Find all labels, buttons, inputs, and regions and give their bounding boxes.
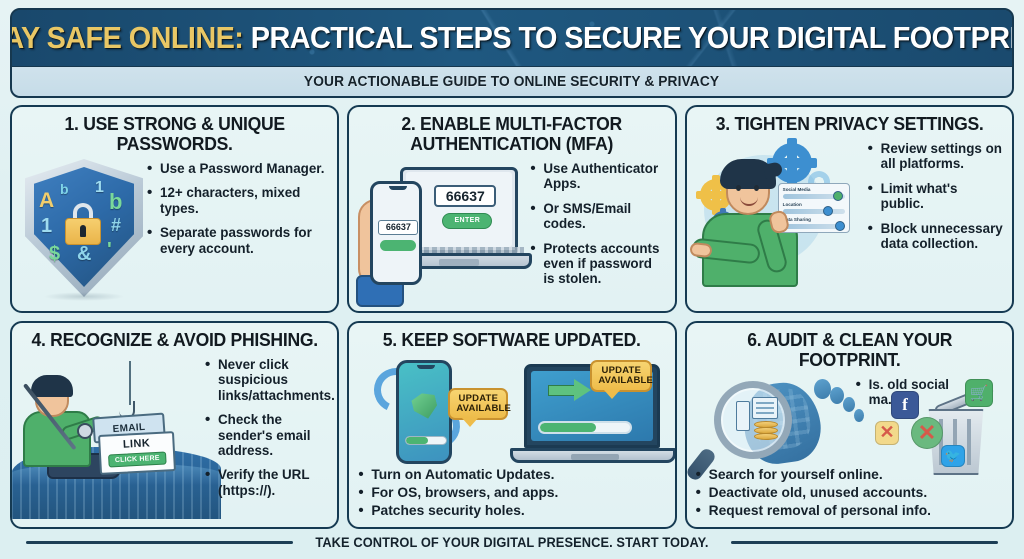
list-item: Check the sender's email address. — [205, 412, 335, 458]
card-title: 6. AUDIT & CLEAN YOUR FOOTPRINT. — [703, 330, 995, 370]
list-item: Protects accounts even if password is st… — [530, 241, 665, 287]
bullet-list: Search for yourself online. Deactivate o… — [696, 463, 1003, 521]
card-mfa: 2. ENABLE MULTI-FACTOR AUTHENTICATION (M… — [347, 105, 676, 313]
link-card-label: LINK — [100, 436, 173, 452]
list-item: Limit what's public. — [868, 181, 1003, 212]
phone-icon: 66637 — [370, 181, 422, 285]
shield-char: # — [111, 215, 121, 236]
padlock-icon — [65, 203, 101, 245]
bullet-list: Never click suspicious links/attachments… — [205, 353, 335, 507]
shield-char: ' — [107, 239, 112, 262]
update-illustration: UPDATE AVAILABLE UPDATE AVAILABLE — [358, 354, 665, 463]
hand-icon: 66637 — [358, 181, 434, 305]
tips-grid: 1. USE STRONG & UNIQUE PASSWORDS. A b 1 … — [10, 105, 1014, 529]
toggle-knob[interactable] — [833, 191, 843, 201]
phone-icon — [396, 360, 452, 464]
list-item: Or SMS/Email codes. — [530, 201, 665, 232]
phone-code: 66637 — [378, 220, 418, 235]
card-body: UPDATE AVAILABLE UPDATE AVAILABLE Turn o… — [358, 353, 665, 521]
shield-char: 1 — [95, 179, 104, 197]
phishing-illustration: EMAIL LINK CLICK HERE — [21, 353, 201, 511]
shopping-cart-icon: 🛒 — [965, 379, 993, 407]
list-item: Verify the URL (https://). — [205, 467, 335, 498]
card-body: Social Media Location Data Sharing — [696, 137, 1003, 305]
footer-tagline: TAKE CONTROL OF YOUR DIGITAL PRESENCE. S… — [315, 535, 708, 550]
privacy-illustration: Social Media Location Data Sharing — [696, 137, 864, 287]
title-highlight: STAY SAFE ONLINE: — [10, 20, 243, 55]
divider-left — [26, 541, 293, 544]
list-item: Patches security holes. — [358, 503, 665, 519]
update-badge-phone: UPDATE AVAILABLE — [448, 388, 508, 420]
card-updates: 5. KEEP SOFTWARE UPDATED. UPDATE — [347, 321, 676, 529]
card-title: 3. TIGHTEN PRIVACY SETTINGS. — [703, 114, 995, 134]
card-privacy: 3. TIGHTEN PRIVACY SETTINGS. — [685, 105, 1014, 313]
shield-char: $ — [49, 243, 60, 266]
list-item: Use Authenticator Apps. — [530, 161, 665, 192]
shield-char: 1 — [41, 215, 52, 238]
twitter-icon: 🐦 — [941, 445, 965, 467]
bullet-list: Review settings on all platforms. Limit … — [868, 137, 1003, 260]
footer: TAKE CONTROL OF YOUR DIGITAL PRESENCE. S… — [10, 529, 1014, 555]
laptop-code: 66637 — [434, 185, 496, 207]
card-phishing: 4. RECOGNIZE & AVOID PHISHING. — [10, 321, 339, 529]
card-body: EMAIL LINK CLICK HERE Never click suspic… — [21, 353, 328, 521]
link-card: LINK CLICK HERE — [98, 431, 176, 475]
mfa-illustration: 66637 ENTER 66637 — [358, 157, 526, 305]
card-body: Is. old social ma. e.g. f 🛒 ✕ ✕ 🐦 Search… — [696, 373, 1003, 521]
shield-char: & — [77, 243, 91, 266]
page-subtitle: YOUR ACTIONABLE GUIDE TO ONLINE SECURITY… — [304, 74, 719, 90]
list-item: Turn on Automatic Updates. — [358, 467, 665, 483]
card-title: 4. RECOGNIZE & AVOID PHISHING. — [29, 330, 321, 350]
database-icon — [754, 421, 778, 443]
update-badge-laptop: UPDATE AVAILABLE — [590, 360, 652, 392]
list-item: Review settings on all platforms. — [868, 141, 1003, 172]
click-here-button[interactable]: CLICK HERE — [108, 451, 167, 467]
card-passwords: 1. USE STRONG & UNIQUE PASSWORDS. A b 1 … — [10, 105, 339, 313]
list-item: Block unnecessary data collection. — [868, 221, 1003, 252]
toggle-knob[interactable] — [835, 221, 845, 231]
shield-char: A — [39, 189, 54, 213]
toggle-knob[interactable] — [823, 206, 833, 216]
shield-icon: A b 1 b 1 # $ & ' — [21, 157, 143, 297]
list-item: Deactivate old, unused accounts. — [696, 485, 1003, 501]
list-item: Separate passwords for every account. — [147, 225, 328, 256]
phone-confirm-button[interactable] — [380, 240, 416, 251]
page-title: STAY SAFE ONLINE: PRACTICAL STEPS TO SEC… — [10, 20, 1014, 56]
delete-x-icon: ✕ — [875, 421, 899, 445]
list-item: 12+ characters, mixed types. — [147, 185, 328, 216]
subtitle-bar: YOUR ACTIONABLE GUIDE TO ONLINE SECURITY… — [12, 66, 1012, 96]
enter-button[interactable]: ENTER — [442, 213, 492, 229]
shield-char: b — [109, 189, 122, 215]
bullet-list: Turn on Automatic Updates. For OS, brows… — [358, 463, 665, 521]
card-title: 5. KEEP SOFTWARE UPDATED. — [366, 330, 658, 350]
card-body: A b 1 b 1 # $ & ' — [21, 157, 328, 305]
list-item: Use a Password Manager. — [147, 161, 328, 176]
card-title: 1. USE STRONG & UNIQUE PASSWORDS. — [29, 114, 321, 154]
list-item: Search for yourself online. — [696, 467, 1003, 483]
list-item: Request removal of personal info. — [696, 503, 1003, 519]
card-body: 66637 ENTER 66637 — [358, 157, 665, 305]
toggle-label: Location — [783, 203, 845, 208]
magnifier-icon — [714, 381, 792, 459]
header: STAY SAFE ONLINE: PRACTICAL STEPS TO SEC… — [10, 8, 1014, 98]
shield-char: b — [60, 181, 69, 197]
infographic-page: STAY SAFE ONLINE: PRACTICAL STEPS TO SEC… — [0, 0, 1024, 559]
divider-right — [731, 541, 998, 544]
list-item: Never click suspicious links/attachments… — [205, 357, 335, 403]
card-footprint: 6. AUDIT & CLEAN YOUR FOOTPRINT. Is. old… — [685, 321, 1014, 529]
bullet-list: Use Authenticator Apps. Or SMS/Email cod… — [530, 157, 665, 296]
delete-x-icon: ✕ — [911, 417, 943, 449]
header-bar: STAY SAFE ONLINE: PRACTICAL STEPS TO SEC… — [12, 10, 1012, 66]
facebook-icon: f — [891, 391, 919, 419]
audit-illustration: Is. old social ma. e.g. f 🛒 ✕ ✕ 🐦 — [696, 373, 1003, 463]
bullet-list: Use a Password Manager. 12+ characters, … — [147, 157, 328, 265]
card-title: 2. ENABLE MULTI-FACTOR AUTHENTICATION (M… — [366, 114, 658, 154]
list-item: For OS, browsers, and apps. — [358, 485, 665, 501]
title-main: PRACTICAL STEPS TO SECURE YOUR DIGITAL F… — [251, 20, 1014, 55]
